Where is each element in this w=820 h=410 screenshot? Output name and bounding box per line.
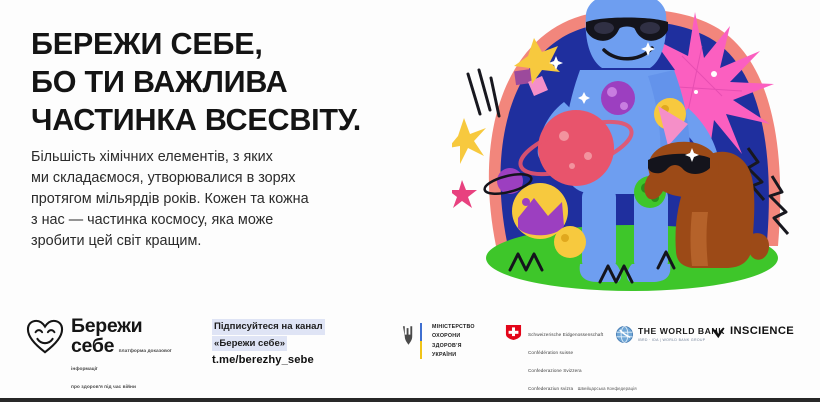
- cosmic-figure-with-dog-illustration: [452, 0, 820, 302]
- partner-logo-world-bank: THE WORLD BANK IBRD · IDA | WORLD BANK G…: [616, 326, 725, 343]
- ukraine-trident-icon: [402, 325, 415, 346]
- ministry-divider: [420, 323, 422, 359]
- inscience-name: INSCIENCE: [730, 326, 794, 337]
- body-paragraph: Більшість хімічних елементів, з яких ми …: [31, 147, 431, 252]
- partner-logo-ministry-of-health: МІНІСТЕРСТВО ОХОРОНИ ЗДОРОВ'Я УКРАЇНИ: [402, 323, 475, 360]
- partner-logo-inscience: INSCIENCE: [712, 326, 794, 338]
- heart-face-icon: [26, 319, 64, 355]
- telegram-callout[interactable]: Підписуйтеся на канал «Бережи себе» t.me…: [212, 319, 372, 368]
- telegram-url[interactable]: t.me/berezhy_sebe: [212, 353, 314, 368]
- telegram-subscribe-line1: Підписуйтеся на канал: [212, 319, 325, 335]
- swiss-confederation-languages: Schweizerische Eidgenossenschaft Confédé…: [528, 332, 603, 391]
- brand-wordmark: Бережи себе платформа доказової інформац…: [71, 316, 186, 393]
- bottom-rule: [0, 398, 820, 402]
- campaign-banner: БЕРЕЖИ СЕБЕ, БО ТИ ВАЖЛИВА ЧАСТИНКА ВСЕС…: [0, 0, 820, 410]
- check-arrow-icon: [712, 326, 725, 338]
- brand-logo[interactable]: Бережи себе платформа доказової інформац…: [26, 316, 186, 393]
- globe-icon: [616, 326, 633, 343]
- swiss-confederation-ukrainian: Швейцарська Конфедерація: [578, 386, 637, 391]
- page-title: БЕРЕЖИ СЕБЕ, БО ТИ ВАЖЛИВА ЧАСТИНКА ВСЕС…: [31, 26, 461, 139]
- ministry-name: МІНІСТЕРСТВО ОХОРОНИ ЗДОРОВ'Я УКРАЇНИ: [432, 323, 475, 360]
- footer: Бережи себе платформа доказової інформац…: [0, 300, 820, 402]
- telegram-subscribe-line2: «Бережи себе»: [212, 336, 287, 352]
- swiss-shield-icon: [505, 324, 522, 341]
